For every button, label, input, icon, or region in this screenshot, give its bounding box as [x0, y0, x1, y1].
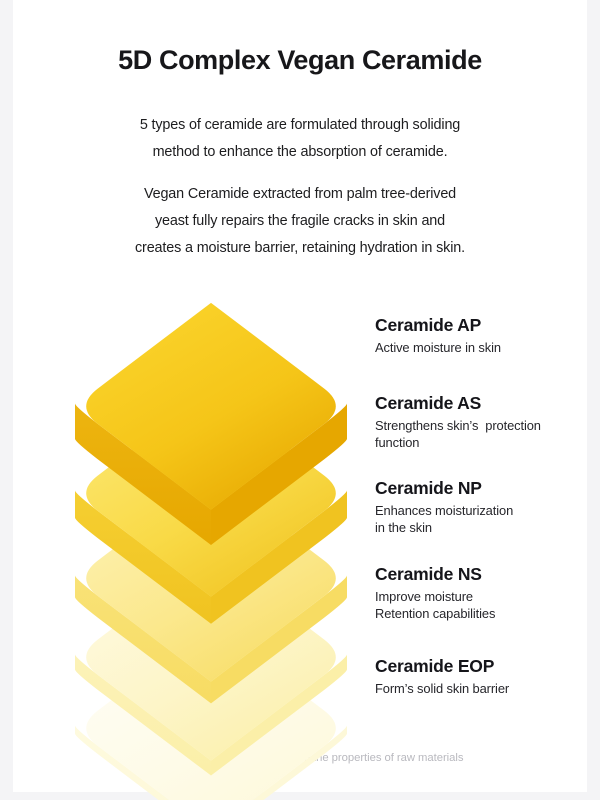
ceramide-description: Enhances moisturizationin the skin [375, 502, 585, 536]
description-line: Active moisture in skin [375, 339, 585, 356]
ceramide-name: Ceramide NS [375, 563, 585, 585]
ceramide-entry: Ceramide APActive moisture in skin [375, 314, 585, 356]
paragraph-line: 5 types of ceramide are formulated throu… [13, 112, 587, 139]
intro-paragraph-2: Vegan Ceramide extracted from palm tree-… [13, 181, 587, 262]
infographic-page: 5D Complex Vegan Ceramide 5 types of cer… [0, 0, 600, 800]
description-line: Strengthens skin’s protection [375, 417, 585, 434]
ceramide-name: Ceramide AS [375, 392, 585, 414]
ceramide-layer-stack [75, 292, 365, 712]
paragraph-line: method to enhance the absorption of cera… [13, 139, 587, 166]
description-line: Form’s solid skin barrier [375, 680, 585, 697]
description-line: Retention capabilities [375, 605, 585, 622]
description-line: in the skin [375, 519, 585, 536]
paragraph-line: Vegan Ceramide extracted from palm tree-… [13, 181, 587, 208]
ceramide-entry: Ceramide ASStrengthens skin’s protection… [375, 392, 585, 451]
ceramide-description: Active moisture in skin [375, 339, 585, 356]
description-line: function [375, 434, 585, 451]
paragraph-line: yeast fully repairs the fragile cracks i… [13, 208, 587, 235]
ceramide-name: Ceramide NP [375, 477, 585, 499]
page-title: 5D Complex Vegan Ceramide [13, 45, 587, 76]
ceramide-entry: Ceramide EOPForm’s solid skin barrier [375, 655, 585, 697]
ceramide-entry: Ceramide NPEnhances moisturizationin the… [375, 477, 585, 536]
ceramide-slab [75, 292, 347, 564]
ceramide-description: Strengthens skin’s protectionfunction [375, 417, 585, 451]
content-card: 5D Complex Vegan Ceramide 5 types of cer… [13, 0, 587, 792]
ceramide-name: Ceramide AP [375, 314, 585, 336]
ceramide-description: Improve moistureRetention capabilities [375, 588, 585, 622]
ceramide-name: Ceramide EOP [375, 655, 585, 677]
ceramide-entry: Ceramide NSImprove moistureRetention cap… [375, 563, 585, 622]
description-line: Enhances moisturization [375, 502, 585, 519]
ceramide-description: Form’s solid skin barrier [375, 680, 585, 697]
description-line: Improve moisture [375, 588, 585, 605]
intro-paragraph-1: 5 types of ceramide are formulated throu… [13, 112, 587, 166]
paragraph-line: creates a moisture barrier, retaining hy… [13, 235, 587, 262]
